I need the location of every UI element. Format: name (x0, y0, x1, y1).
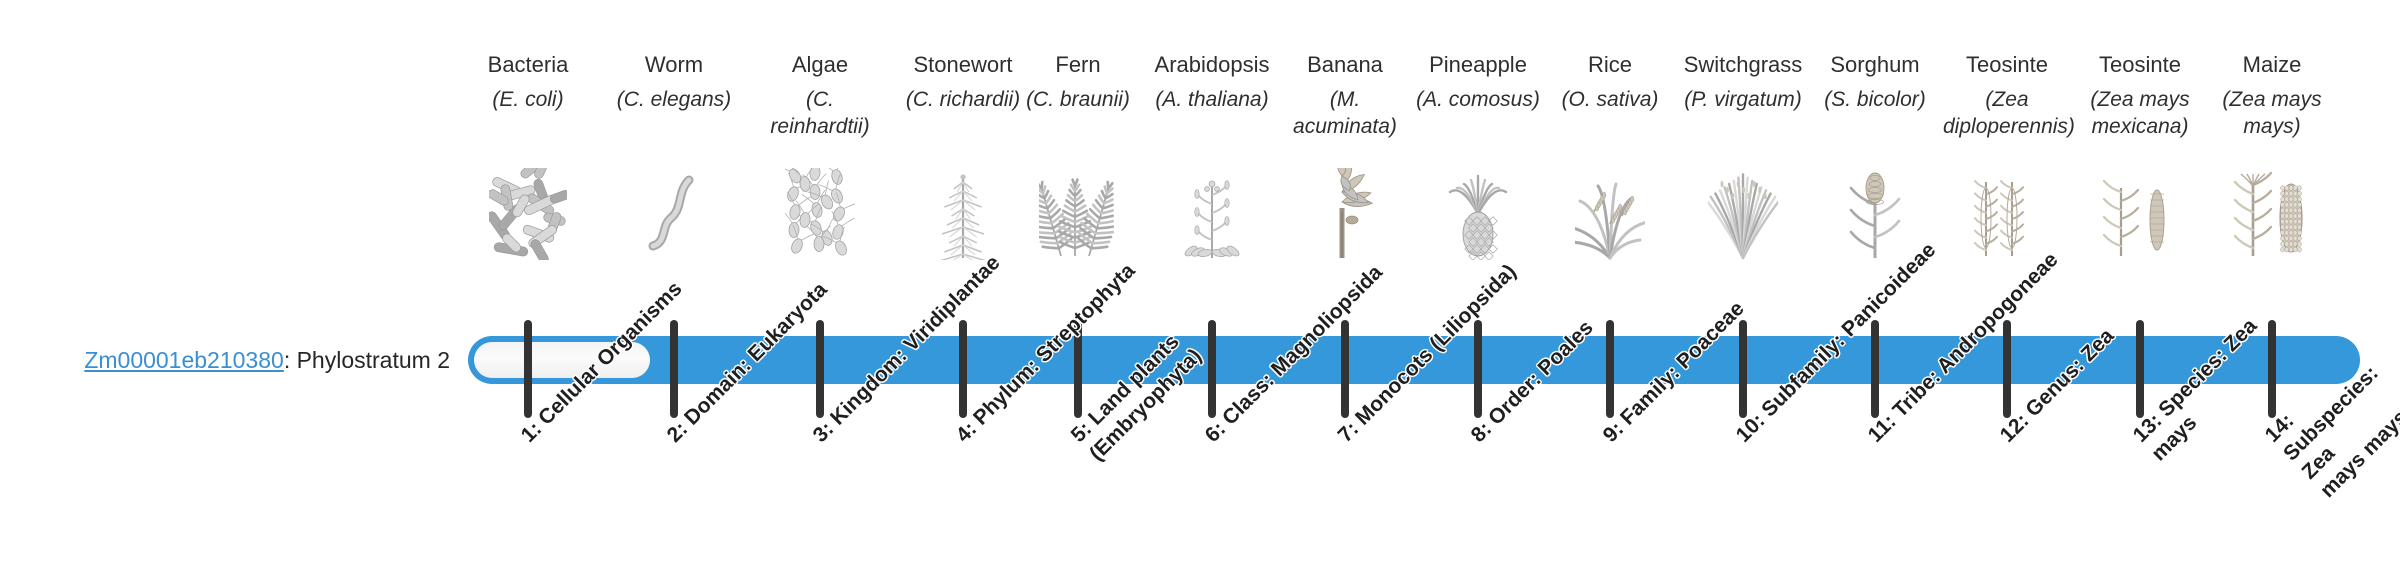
stratum-tick-13[interactable] (2136, 320, 2144, 418)
stratum-tick-14[interactable] (2268, 320, 2276, 418)
stratum-tick-11[interactable] (1871, 320, 1879, 418)
stratum-tick-10[interactable] (1739, 320, 1747, 418)
phylostratum-visualization: Zm00001eb210380: Phylostratum 2 Bacteria… (0, 0, 2400, 580)
stratum-tick-2[interactable] (670, 320, 678, 418)
stratum-tick-12[interactable] (2003, 320, 2011, 418)
stratum-tick-4[interactable] (959, 320, 967, 418)
stratum-tick-8[interactable] (1474, 320, 1482, 418)
stratum-tick-1[interactable] (524, 320, 532, 418)
phylostratum-bar[interactable] (0, 0, 2400, 580)
stratum-tick-7[interactable] (1341, 320, 1349, 418)
stratum-tick-6[interactable] (1208, 320, 1216, 418)
stratum-tick-3[interactable] (816, 320, 824, 418)
stratum-tick-9[interactable] (1606, 320, 1614, 418)
